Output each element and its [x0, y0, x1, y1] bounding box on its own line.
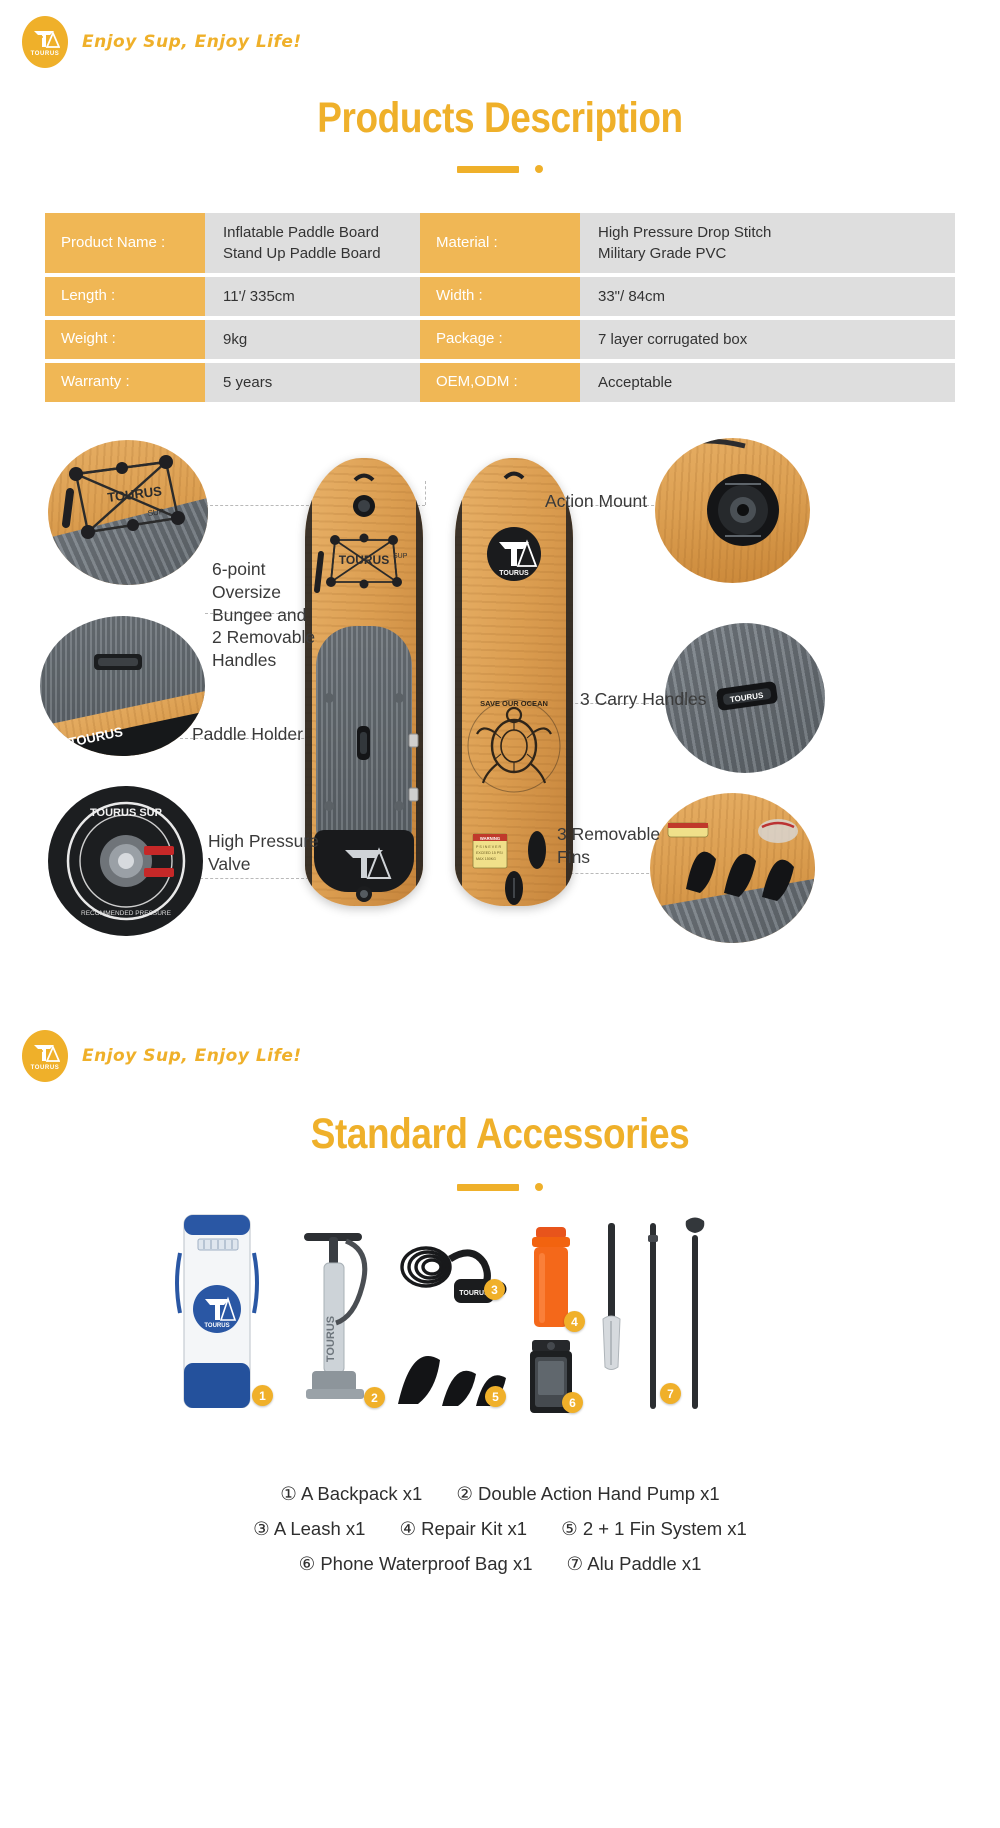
spec-value-product-name: Inflatable Paddle Board Stand Up Paddle … — [205, 213, 420, 273]
page-title-standard-accessories: Standard Accessories — [70, 1110, 930, 1159]
legend-text: Double Action Hand Pump x1 — [478, 1483, 720, 1504]
title-divider-bottom — [0, 1183, 1000, 1191]
spec-value-width: 33"/ 84cm — [580, 277, 955, 316]
svg-text:TOURUS: TOURUS — [204, 1323, 229, 1329]
accessory-badge-2: 2 — [364, 1387, 385, 1408]
divider-bar — [457, 166, 519, 173]
spec-key-width: Width : — [420, 277, 580, 316]
svg-text:TOURUS: TOURUS — [68, 724, 125, 750]
spec-key-material: Material : — [420, 213, 580, 273]
legend-text: Alu Paddle x1 — [587, 1553, 701, 1574]
feature-label-action-mount: Action Mount — [545, 490, 647, 513]
accessory-badge-3: 3 — [484, 1279, 505, 1300]
table-row: Length : 11'/ 335cm Width : 33"/ 84cm — [45, 277, 955, 316]
svg-text:TOURUS: TOURUS — [325, 1316, 337, 1362]
accessories-gallery: TOURUS 1 TOURUS 2 TO — [0, 1213, 1000, 1463]
spec-key-oem-odm: OEM,ODM : — [420, 363, 580, 402]
logo-monogram-icon — [30, 28, 60, 50]
legend-number: ⑦ — [567, 1553, 584, 1574]
spec-key-weight: Weight : — [45, 320, 205, 359]
brand-header-top: TOURUS Enjoy Sup, Enjoy Life! — [0, 0, 1000, 68]
legend-row: ⑥ Phone Waterproof Bag x1 ⑦ Alu Paddle x… — [0, 1553, 1000, 1575]
svg-text:TOURUS: TOURUS — [339, 553, 389, 567]
accessory-badge-6: 6 — [562, 1392, 583, 1413]
svg-text:TOURUS SUP: TOURUS SUP — [90, 807, 162, 819]
brand-header-bottom: TOURUS Enjoy Sup, Enjoy Life! — [0, 1030, 1000, 1082]
svg-text:SUP: SUP — [147, 507, 164, 518]
spec-value-weight: 9kg — [205, 320, 420, 359]
accessory-phone-bag: 6 — [518, 1338, 584, 1418]
feature-diagram: TOURUS SUP TOURUS TOURUS SUP RECOMMENDED… — [0, 448, 1000, 1008]
accessory-leash: TOURUS 3 — [392, 1227, 512, 1322]
feature-label-bungee: 6-point Oversize Bungee and 2 Removable … — [212, 558, 332, 672]
legend-number: ③ — [253, 1518, 270, 1539]
spec-value-warranty: 5 years — [205, 363, 420, 402]
accessory-badge-1: 1 — [252, 1385, 273, 1406]
spec-value-oem-odm: Acceptable — [580, 363, 955, 402]
logo-wordmark: TOURUS — [31, 51, 60, 57]
table-row: Product Name : Inflatable Paddle Board S… — [45, 213, 955, 273]
brand-tagline: Enjoy Sup, Enjoy Life! — [82, 32, 302, 52]
legend-row: ① A Backpack x1 ② Double Action Hand Pum… — [0, 1483, 1000, 1505]
detail-photo-valve: TOURUS SUP RECOMMENDED PRESSURE — [48, 786, 203, 936]
legend-number: ⑤ — [561, 1518, 578, 1539]
logo-monogram-icon — [30, 1042, 60, 1064]
legend-item-phone-bag: ⑥ Phone Waterproof Bag x1 — [299, 1553, 533, 1575]
accessory-alu-paddle: 7 — [598, 1215, 718, 1410]
legend-number: ① — [280, 1483, 297, 1504]
detail-photo-bungee: TOURUS SUP — [48, 440, 208, 585]
svg-text:TOURUS: TOURUS — [499, 570, 529, 577]
spec-value-material: High Pressure Drop Stitch Military Grade… — [580, 213, 955, 273]
feature-label-paddle-holder: Paddle Holder — [192, 723, 303, 746]
accessory-hand-pump: TOURUS 2 — [290, 1221, 382, 1407]
legend-text: 2 + 1 Fin System x1 — [583, 1518, 747, 1539]
board-deck-view: TOURUS SUP — [305, 458, 423, 906]
accessories-legend: ① A Backpack x1 ② Double Action Hand Pum… — [0, 1483, 1000, 1575]
spec-key-product-name: Product Name : — [45, 213, 205, 273]
svg-text:EXCEED 15 PSI: EXCEED 15 PSI — [476, 851, 503, 855]
svg-text:MAX 150KG: MAX 150KG — [476, 857, 496, 861]
detail-photo-paddle-holder: TOURUS — [40, 616, 205, 756]
svg-text:TOURUS: TOURUS — [107, 483, 163, 505]
svg-text:SUP: SUP — [393, 553, 408, 560]
accessory-repair-kit: 4 — [520, 1223, 584, 1333]
accessory-badge-4: 4 — [564, 1311, 585, 1332]
tourus-logo: TOURUS — [22, 1030, 68, 1082]
legend-item-alu-paddle: ⑦ Alu Paddle x1 — [567, 1553, 702, 1575]
accessory-backpack: TOURUS 1 — [168, 1213, 268, 1408]
detail-photo-action-mount — [655, 438, 810, 583]
logo-wordmark: TOURUS — [31, 1065, 60, 1071]
legend-number: ② — [456, 1483, 473, 1504]
feature-label-valve: High Pressure Valve — [208, 830, 319, 876]
spec-value-length: 11'/ 335cm — [205, 277, 420, 316]
tourus-logo: TOURUS — [22, 16, 68, 68]
feature-label-fins: 3 Removable Fins — [557, 823, 660, 869]
legend-item-hand-pump: ② Double Action Hand Pump x1 — [456, 1483, 719, 1505]
title-divider-top — [0, 165, 1000, 173]
legend-text: Repair Kit x1 — [421, 1518, 527, 1539]
divider-dot — [535, 165, 543, 173]
page-title-products-description: Products Description — [70, 94, 930, 143]
accessory-fin-system: 5 — [392, 1338, 512, 1410]
connector-line — [425, 481, 426, 505]
legend-item-backpack: ① A Backpack x1 — [280, 1483, 422, 1505]
legend-number: ④ — [399, 1518, 416, 1539]
spec-key-length: Length : — [45, 277, 205, 316]
legend-item-repair-kit: ④ Repair Kit x1 — [399, 1518, 527, 1540]
legend-text: A Leash x1 — [274, 1518, 366, 1539]
legend-item-leash: ③ A Leash x1 — [253, 1518, 365, 1540]
board-bottom-view: TOURUS — [455, 458, 573, 906]
legend-text: A Backpack x1 — [301, 1483, 422, 1504]
brand-tagline: Enjoy Sup, Enjoy Life! — [82, 1046, 302, 1066]
divider-bar — [457, 1184, 519, 1191]
svg-text:SAVE OUR OCEAN: SAVE OUR OCEAN — [480, 699, 548, 708]
legend-text: Phone Waterproof Bag x1 — [320, 1553, 532, 1574]
legend-number: ⑥ — [299, 1553, 316, 1574]
svg-text:WARNING: WARNING — [480, 836, 500, 841]
accessory-badge-5: 5 — [485, 1386, 506, 1407]
feature-label-carry-handles: 3 Carry Handles — [580, 688, 706, 711]
accessory-badge-7: 7 — [660, 1383, 681, 1404]
spec-value-package: 7 layer corrugated box — [580, 320, 955, 359]
svg-text:RECOMMENDED PRESSURE: RECOMMENDED PRESSURE — [81, 910, 172, 917]
spec-key-package: Package : — [420, 320, 580, 359]
specification-table: Product Name : Inflatable Paddle Board S… — [45, 209, 955, 406]
table-row: Weight : 9kg Package : 7 layer corrugate… — [45, 320, 955, 359]
divider-dot — [535, 1183, 543, 1191]
table-row: Warranty : 5 years OEM,ODM : Acceptable — [45, 363, 955, 402]
detail-photo-fins — [650, 793, 815, 943]
legend-item-fin-system: ⑤ 2 + 1 Fin System x1 — [561, 1518, 747, 1540]
svg-text:P S I N E V E R: P S I N E V E R — [476, 845, 502, 849]
spec-key-warranty: Warranty : — [45, 363, 205, 402]
legend-row: ③ A Leash x1 ④ Repair Kit x1 ⑤ 2 + 1 Fin… — [0, 1518, 1000, 1540]
